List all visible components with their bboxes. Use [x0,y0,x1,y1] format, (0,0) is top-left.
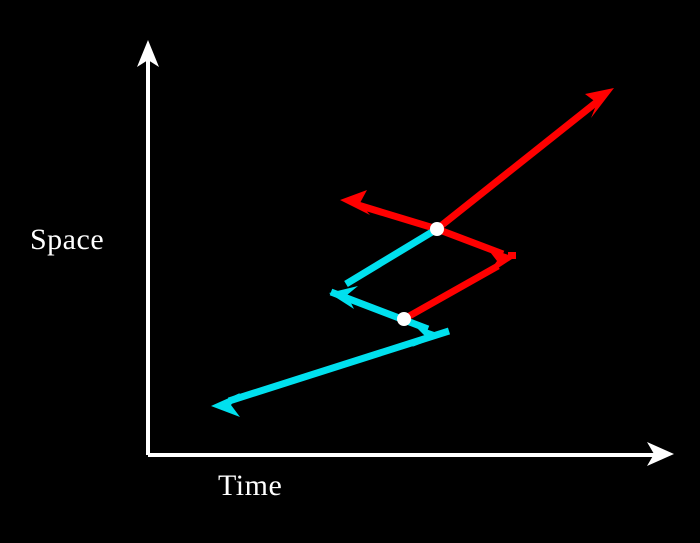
red-middle-right-tip-nub [508,252,516,259]
y-axis-label: Space [30,225,104,255]
lower-interaction-vertex-dot [397,312,411,326]
x-axis-label: Time [218,471,282,501]
red-upper-right-arrow-icon [585,88,614,118]
spacetime-diagram-figure: Space Time [0,0,700,543]
diagram-canvas [0,0,700,543]
red-upper-right-outgoing-line [437,101,598,229]
cyan-upper-to-lowerleft-line [346,229,437,284]
cyan-bottom-left-arrow-icon [211,393,240,417]
red-upper-left-outgoing-line [358,205,437,229]
cyan-worldlines-group [211,229,449,417]
red-upper-left-arrow-icon [340,190,370,215]
upper-interaction-vertex-dot [430,222,444,236]
red-lower-to-middle-line [404,266,498,319]
red-worldlines-group [340,88,614,319]
cyan-long-outgoing-line [229,331,449,401]
